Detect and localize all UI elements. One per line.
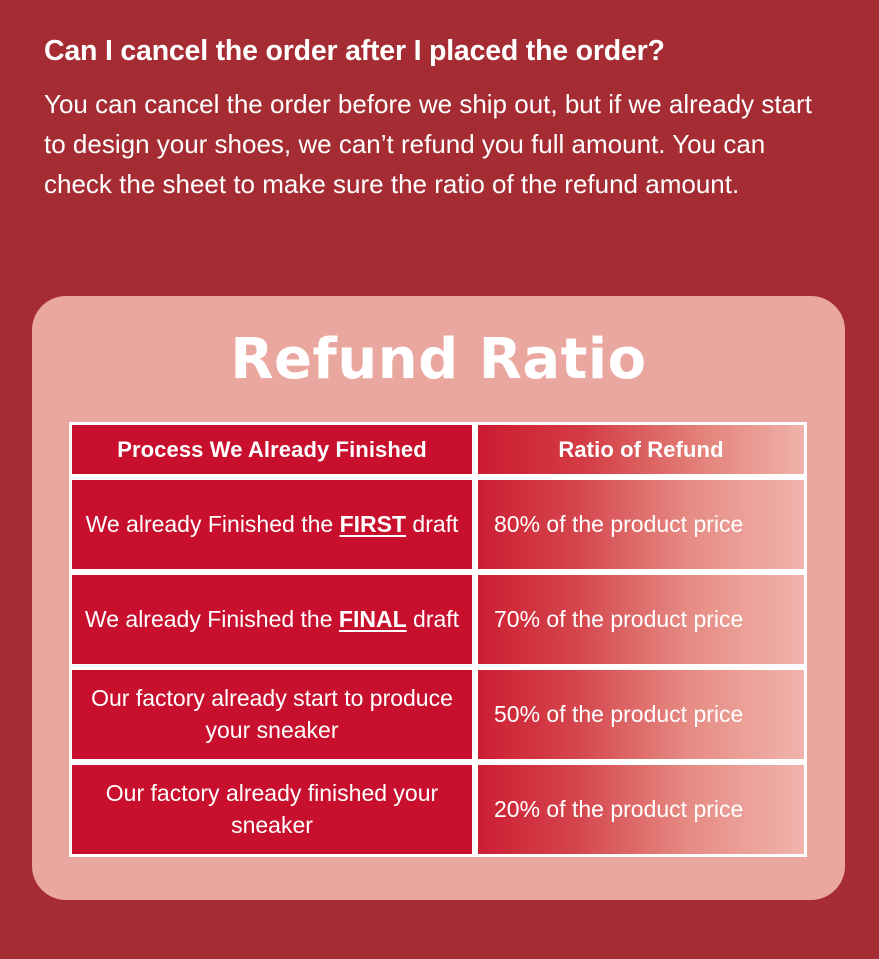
process-text-prefix: We already Finished the	[86, 511, 340, 537]
process-text-prefix: We already Finished the	[85, 606, 339, 632]
cell-ratio: 70% of the product price	[475, 572, 807, 667]
cell-ratio: 50% of the product price	[475, 667, 807, 762]
process-text-emphasis: FINAL	[339, 606, 407, 632]
cell-process: We already Finished the FIRST draft	[69, 477, 475, 572]
card-title: Refund Ratio	[32, 332, 845, 388]
table-row: We already Finished the FINAL draft 70% …	[69, 572, 807, 667]
process-text-suffix: draft	[407, 606, 459, 632]
faq-block: Can I cancel the order after I placed th…	[44, 34, 844, 204]
refund-ratio-table: Process We Already Finished Ratio of Ref…	[69, 422, 807, 857]
cell-ratio: 80% of the product price	[475, 477, 807, 572]
cell-process: Our factory already start to produce you…	[69, 667, 475, 762]
table-row: Our factory already start to produce you…	[69, 667, 807, 762]
table-row: Our factory already finished your sneake…	[69, 762, 807, 857]
process-text-emphasis: FIRST	[340, 511, 406, 537]
table-header-row: Process We Already Finished Ratio of Ref…	[69, 422, 807, 477]
table-body: We already Finished the FIRST draft 80% …	[69, 477, 807, 857]
process-text-prefix: Our factory already start to produce you…	[91, 685, 453, 742]
ratio-text: 70% of the product price	[488, 604, 794, 635]
cell-ratio: 20% of the product price	[475, 762, 807, 857]
ratio-text: 80% of the product price	[488, 509, 794, 540]
cell-process: We already Finished the FINAL draft	[69, 572, 475, 667]
table-row: We already Finished the FIRST draft 80% …	[69, 477, 807, 572]
faq-page: Can I cancel the order after I placed th…	[0, 0, 879, 959]
ratio-text: 20% of the product price	[488, 794, 794, 825]
process-text-prefix: Our factory already finished your sneake…	[106, 780, 438, 837]
cell-process: Our factory already finished your sneake…	[69, 762, 475, 857]
column-header-ratio: Ratio of Refund	[475, 422, 807, 477]
ratio-text: 50% of the product price	[488, 699, 794, 730]
column-header-process: Process We Already Finished	[69, 422, 475, 477]
faq-answer: You can cancel the order before we ship …	[44, 84, 839, 204]
table-header: Process We Already Finished Ratio of Ref…	[69, 422, 807, 477]
faq-question: Can I cancel the order after I placed th…	[44, 34, 844, 70]
refund-ratio-card: Refund Ratio Process We Already Finished…	[32, 296, 845, 900]
process-text-suffix: draft	[406, 511, 458, 537]
